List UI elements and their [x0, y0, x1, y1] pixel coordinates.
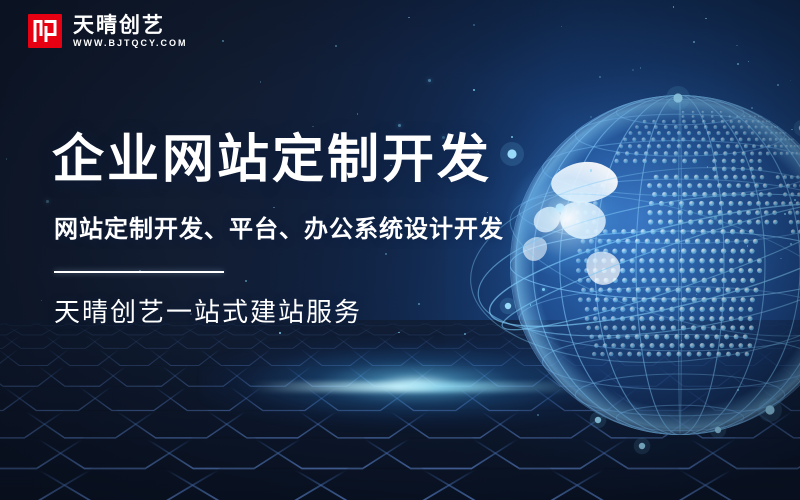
- tianqing-square-mark-icon: [28, 14, 62, 48]
- hero-divider: [54, 271, 224, 273]
- brand-logo[interactable]: 天晴创艺 WWW.BJTQCY.COM: [28, 14, 188, 48]
- banner-canvas: 天晴创艺 WWW.BJTQCY.COM 企业网站定制开发 网站定制开发、平台、办…: [0, 0, 800, 500]
- hero-subheadline: 网站定制开发、平台、办公系统设计开发: [54, 216, 572, 245]
- hero-copy-block: 企业网站定制开发 网站定制开发、平台、办公系统设计开发 天晴创艺一站式建站服务: [52, 132, 572, 328]
- logo-company-name: 天晴创艺: [73, 15, 188, 36]
- page-title: 企业网站定制开发: [52, 132, 572, 190]
- logo-website-url: WWW.BJTQCY.COM: [73, 39, 188, 48]
- hero-tagline: 天晴创艺一站式建站服务: [54, 297, 572, 328]
